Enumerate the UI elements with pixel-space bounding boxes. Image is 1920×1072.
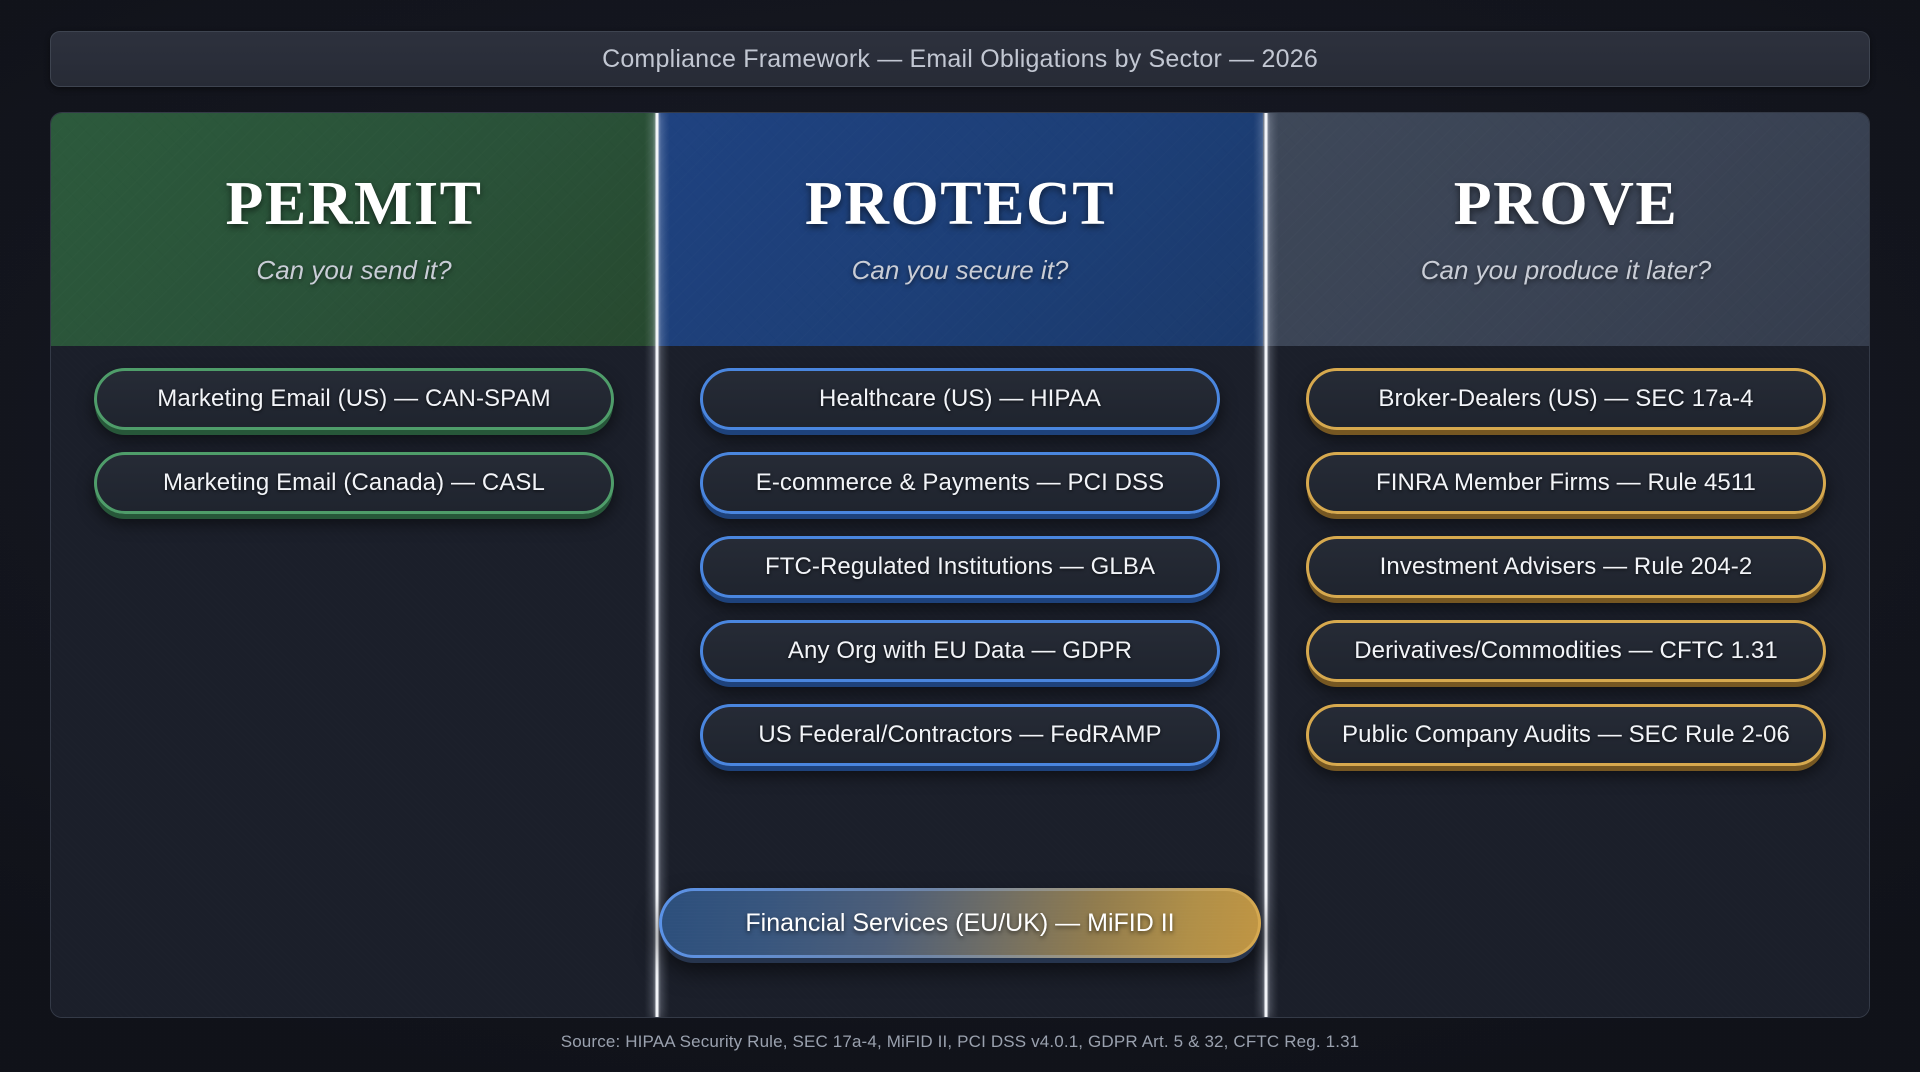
- list-item[interactable]: Derivatives/Commodities — CFTC 1.31: [1306, 620, 1826, 682]
- list-item-label: Broker-Dealers (US) — SEC 17a-4: [1378, 385, 1753, 413]
- list-item[interactable]: Any Org with EU Data — GDPR: [700, 620, 1220, 682]
- infographic-stage: Compliance Framework — Email Obligations…: [0, 0, 1920, 1072]
- list-item-label: Marketing Email (US) — CAN-SPAM: [157, 385, 550, 413]
- footer: Source: HIPAA Security Rule, SEC 17a-4, …: [0, 1032, 1920, 1052]
- spanning-item-body: Financial Services (EU/UK) — MiFID II: [662, 891, 1258, 955]
- column-permit-heading: PERMIT: [226, 173, 483, 235]
- framework-panel: PERMIT Can you send it? Marketing Email …: [50, 112, 1870, 1018]
- source-note: Source: HIPAA Security Rule, SEC 17a-4, …: [561, 1032, 1360, 1051]
- list-item-label: E-commerce & Payments — PCI DSS: [756, 469, 1165, 497]
- list-item-label: Any Org with EU Data — GDPR: [788, 637, 1132, 665]
- column-prove-subheading: Can you produce it later?: [1421, 255, 1712, 286]
- list-item[interactable]: Healthcare (US) — HIPAA: [700, 368, 1220, 430]
- column-permit-subheading: Can you send it?: [256, 255, 451, 286]
- list-item-label: Investment Advisers — Rule 204-2: [1380, 553, 1753, 581]
- column-prove-header: PROVE Can you produce it later?: [1263, 113, 1869, 346]
- column-protect-subheading: Can you secure it?: [852, 255, 1069, 286]
- list-item[interactable]: Public Company Audits — SEC Rule 2-06: [1306, 704, 1826, 766]
- list-item-label: FTC-Regulated Institutions — GLBA: [765, 553, 1155, 581]
- column-protect-heading: PROTECT: [805, 173, 1115, 235]
- column-permit: PERMIT Can you send it? Marketing Email …: [51, 113, 657, 1017]
- page-title: Compliance Framework — Email Obligations…: [602, 45, 1318, 74]
- list-item[interactable]: FINRA Member Firms — Rule 4511: [1306, 452, 1826, 514]
- list-item[interactable]: US Federal/Contractors — FedRAMP: [700, 704, 1220, 766]
- spanning-item-label: Financial Services (EU/UK) — MiFID II: [745, 909, 1174, 938]
- list-item-label: Healthcare (US) — HIPAA: [819, 385, 1101, 413]
- list-item-label: Public Company Audits — SEC Rule 2-06: [1342, 721, 1790, 749]
- list-item[interactable]: Broker-Dealers (US) — SEC 17a-4: [1306, 368, 1826, 430]
- list-item[interactable]: Investment Advisers — Rule 204-2: [1306, 536, 1826, 598]
- column-protect: PROTECT Can you secure it? Healthcare (U…: [657, 113, 1263, 1017]
- column-permit-item-list: Marketing Email (US) — CAN-SPAM Marketin…: [51, 368, 657, 514]
- list-item[interactable]: E-commerce & Payments — PCI DSS: [700, 452, 1220, 514]
- list-item-label: Derivatives/Commodities — CFTC 1.31: [1354, 637, 1778, 665]
- list-item[interactable]: Marketing Email (Canada) — CASL: [94, 452, 614, 514]
- column-prove: PROVE Can you produce it later? Broker-D…: [1263, 113, 1869, 1017]
- list-item-label: FINRA Member Firms — Rule 4511: [1376, 469, 1756, 497]
- column-protect-item-list: Healthcare (US) — HIPAA E-commerce & Pay…: [657, 368, 1263, 766]
- column-prove-heading: PROVE: [1454, 173, 1679, 235]
- list-item-label: Marketing Email (Canada) — CASL: [163, 469, 545, 497]
- list-item-label: US Federal/Contractors — FedRAMP: [758, 721, 1161, 749]
- title-bar: Compliance Framework — Email Obligations…: [50, 31, 1870, 87]
- column-container: PERMIT Can you send it? Marketing Email …: [51, 113, 1869, 1017]
- list-item[interactable]: Marketing Email (US) — CAN-SPAM: [94, 368, 614, 430]
- column-protect-header: PROTECT Can you secure it?: [657, 113, 1263, 346]
- list-item[interactable]: FTC-Regulated Institutions — GLBA: [700, 536, 1220, 598]
- spanning-item-financial-services[interactable]: Financial Services (EU/UK) — MiFID II: [659, 888, 1261, 958]
- column-permit-header: PERMIT Can you send it?: [51, 113, 657, 346]
- column-prove-item-list: Broker-Dealers (US) — SEC 17a-4 FINRA Me…: [1263, 368, 1869, 766]
